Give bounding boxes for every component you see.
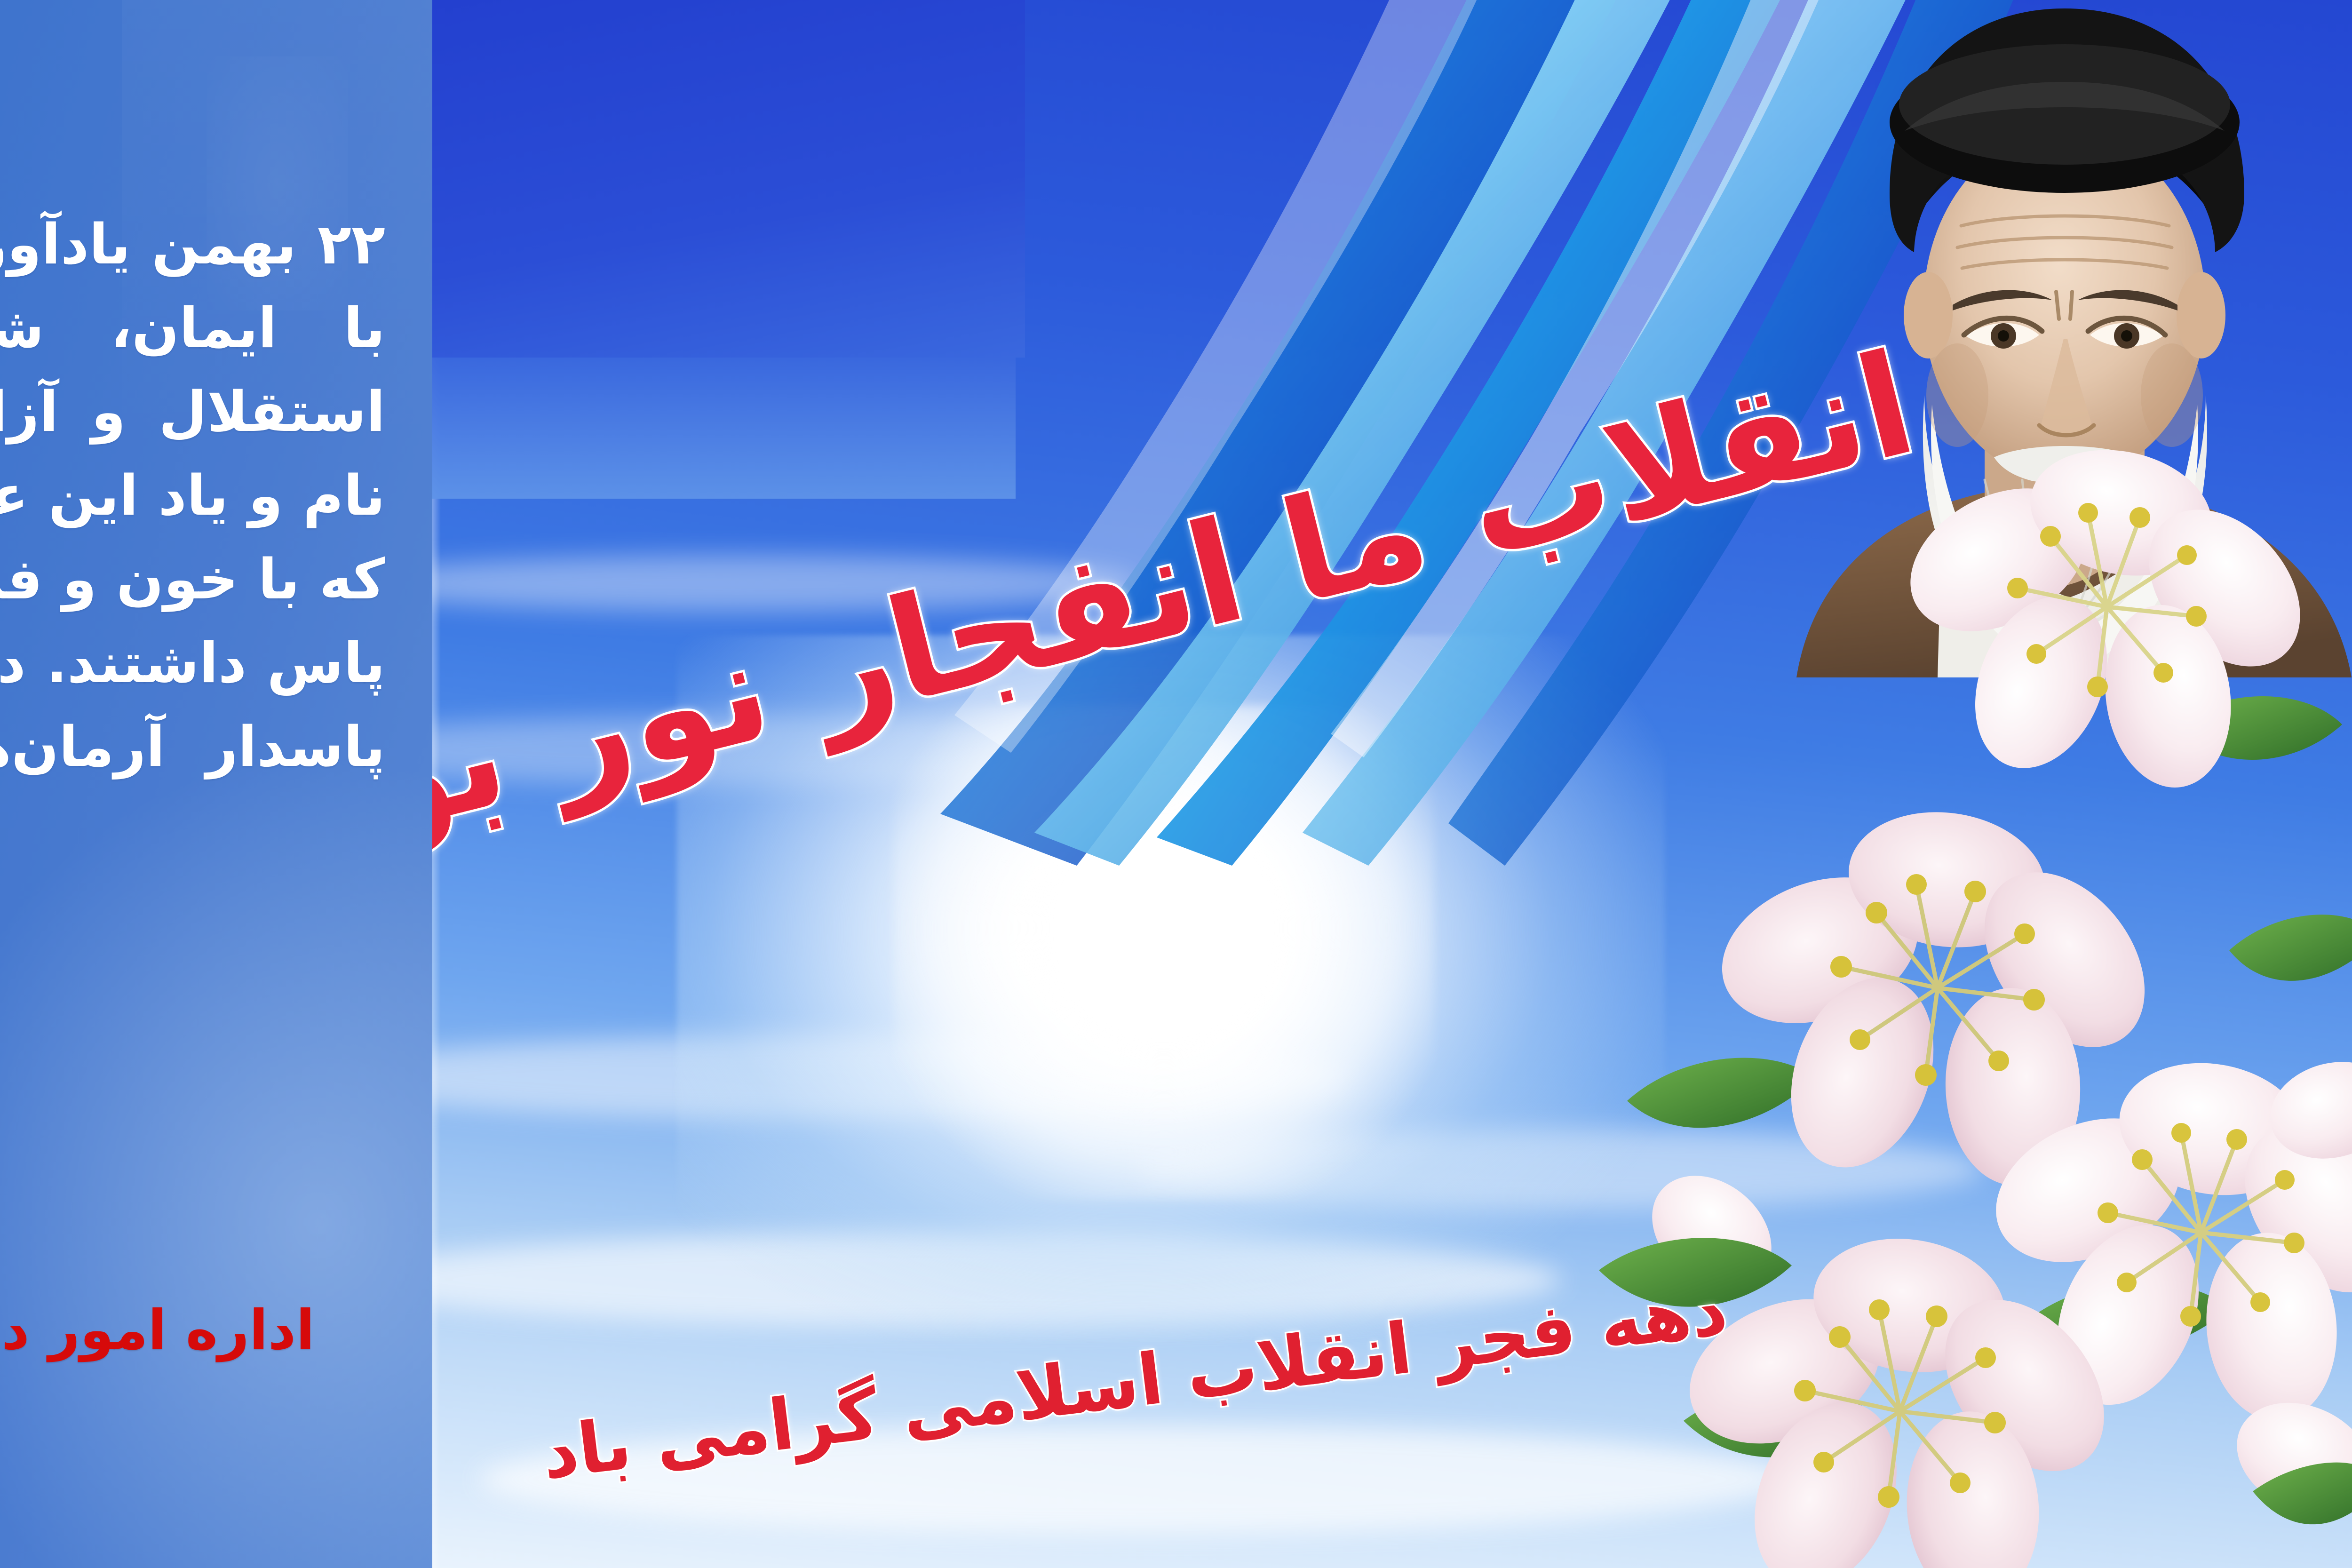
left-text-panel: ۲۲ بهمن یادآور ایستادگی مردان و زنانی اس… bbox=[0, 0, 432, 1568]
commemoration-body-text: ۲۲ بهمن یادآور ایستادگی مردان و زنانی اس… bbox=[0, 202, 385, 872]
spring-blossoms-cluster bbox=[1571, 395, 2352, 1568]
issuing-organization-label: اداره امور دانشجویان شاهد و ایثارگر bbox=[0, 1298, 315, 1362]
poster-panel: انقلاب ما انفجار نور بود bbox=[432, 0, 2352, 1568]
banner-root: ۲۲ بهمن یادآور ایستادگی مردان و زنانی اس… bbox=[0, 0, 2352, 1568]
